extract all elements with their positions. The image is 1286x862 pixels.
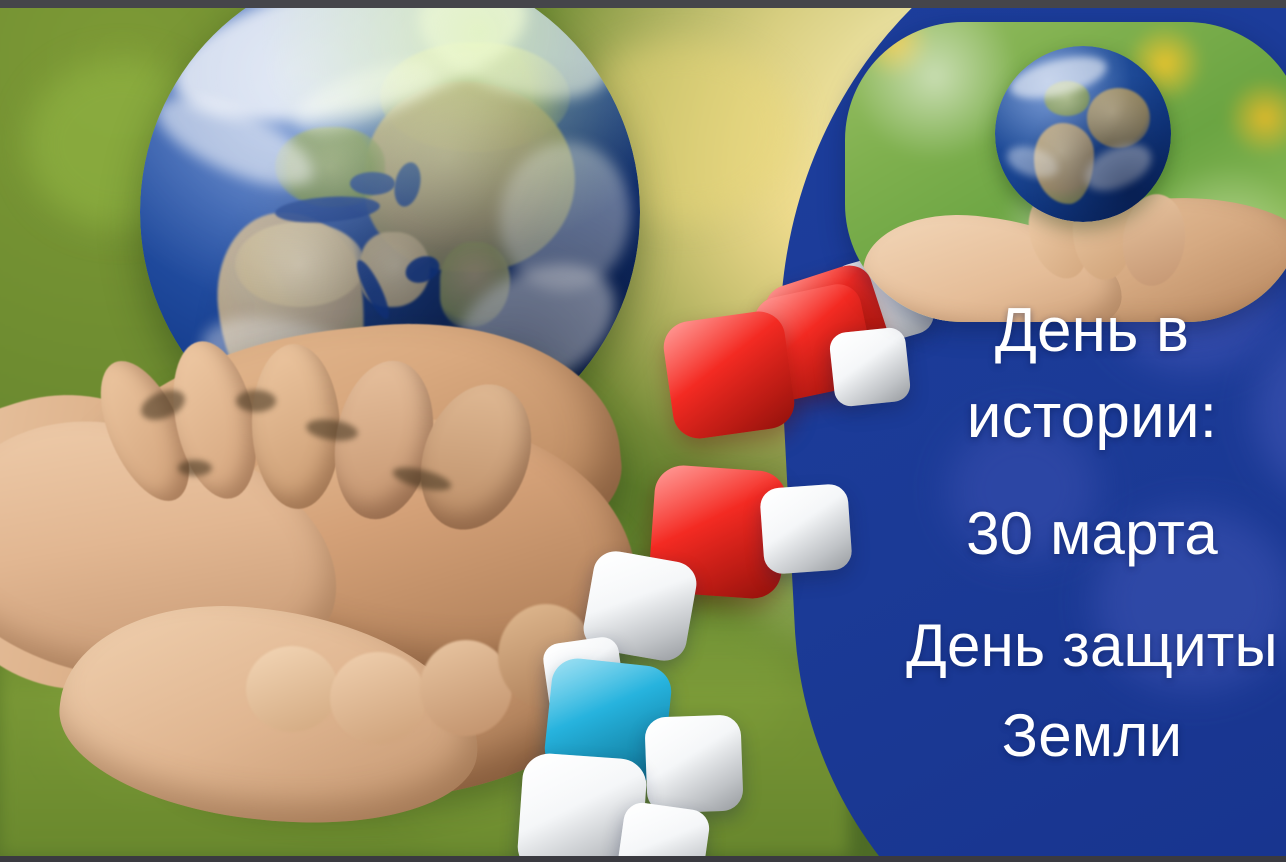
headline-line-5: Земли [906,706,1278,766]
headline-line-3: 30 марта [906,504,1278,564]
cube-white-3 [759,483,853,575]
soil-smudge [178,460,212,476]
inset-photo [845,22,1286,322]
headline-block: День в истории: 30 марта День защиты Зем… [906,300,1278,766]
cube-red-3 [660,308,797,442]
viewer-bottom-bar [0,856,1286,862]
headline-line-1: День в [906,300,1278,362]
inset-globe-lighting [995,46,1171,222]
cube-white-6 [644,714,743,813]
cube-white-2 [828,326,911,408]
soil-smudge [236,390,276,412]
viewer-top-bar [0,0,1286,8]
headline-line-4: День защиты [906,616,1278,676]
knuckle [330,652,426,744]
earth-globe-inset [995,46,1171,222]
headline-line-2: истории: [906,386,1278,448]
knuckle [246,646,338,732]
poster-canvas: День в истории: 30 марта День защиты Зем… [0,0,1286,862]
